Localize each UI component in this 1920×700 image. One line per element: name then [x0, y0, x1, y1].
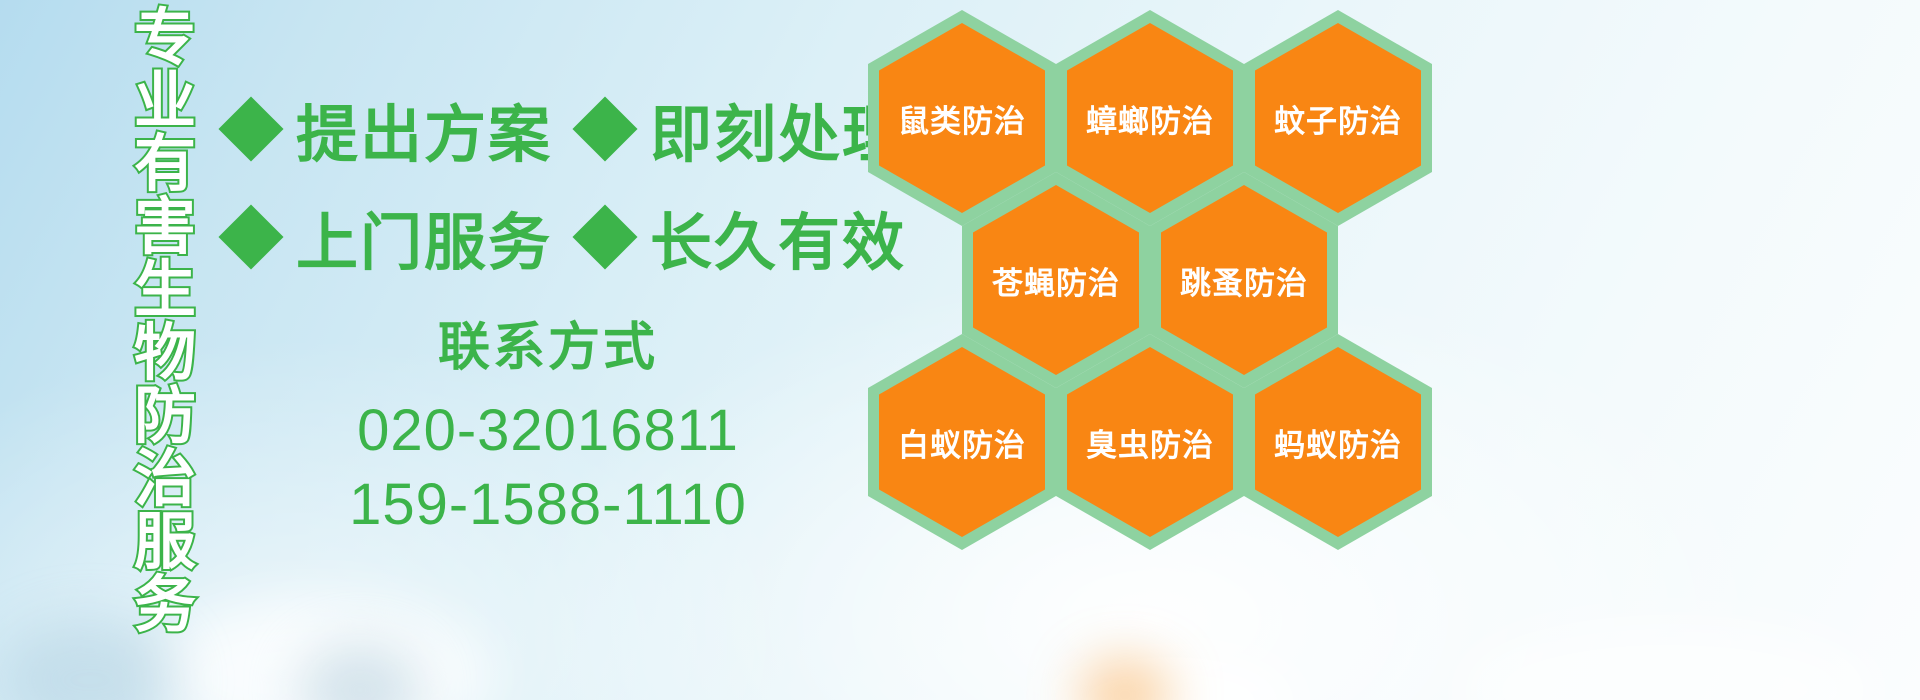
diamond-icon	[218, 204, 283, 269]
background-blur-blob	[1040, 648, 1300, 700]
feature-label: 上门服务	[296, 192, 552, 282]
feature-row: 提出方案 即刻处理	[228, 75, 868, 183]
service-label: 苍蝇防治	[992, 258, 1120, 303]
service-label: 跳蚤防治	[1180, 258, 1308, 303]
vertical-headline-char: 专	[134, 8, 196, 71]
vertical-headline-char: 物	[134, 323, 196, 386]
vertical-headline-char: 治	[134, 449, 196, 512]
vertical-headline-char: 害	[134, 197, 196, 260]
diamond-icon	[218, 96, 283, 161]
vertical-headline-char: 防	[134, 386, 196, 449]
vertical-headline: 专 业 有 害 生 物 防 治 服 务	[110, 8, 220, 638]
service-label: 蟑螂防治	[1086, 96, 1214, 141]
vertical-headline-char: 业	[134, 71, 196, 134]
background-blur-blob	[1460, 620, 1880, 700]
vertical-headline-char: 生	[134, 260, 196, 323]
service-hex-bedbug[interactable]: 臭虫防治	[1056, 334, 1244, 550]
vertical-headline-char: 服	[134, 512, 196, 575]
background-blur-blob	[300, 645, 420, 700]
service-label: 蚂蚁防治	[1274, 420, 1402, 465]
diamond-icon	[572, 204, 637, 269]
diamond-icon	[572, 96, 637, 161]
service-label: 臭虫防治	[1086, 420, 1214, 465]
feature-row: 上门服务 长久有效	[228, 183, 868, 291]
service-label: 蚊子防治	[1274, 96, 1402, 141]
phone-number-mobile[interactable]: 159-1588-1110	[228, 468, 868, 542]
promo-banner: 专 业 有 害 生 物 防 治 服 务 提出方案 即刻处理 上门服务 长久有效 …	[0, 0, 1920, 700]
vertical-headline-char: 务	[134, 575, 196, 638]
service-hex-termite[interactable]: 白蚁防治	[868, 334, 1056, 550]
service-label: 白蚁防治	[898, 420, 1026, 465]
vertical-headline-char: 有	[134, 134, 196, 197]
contact-title: 联系方式	[228, 305, 868, 380]
service-label: 鼠类防治	[898, 96, 1026, 141]
phone-number-landline[interactable]: 020-32016811	[228, 394, 868, 468]
feature-list: 提出方案 即刻处理 上门服务 长久有效	[228, 75, 868, 291]
services-honeycomb: 鼠类防治 蟑螂防治 蚊子防治 苍蝇防治 跳蚤防治 白蚁防治	[860, 0, 1460, 580]
contact-block: 联系方式 020-32016811 159-1588-1110	[228, 305, 868, 542]
feature-label: 提出方案	[296, 84, 552, 174]
service-hex-ant[interactable]: 蚂蚁防治	[1244, 334, 1432, 550]
background-blur-blob	[1080, 660, 1170, 700]
